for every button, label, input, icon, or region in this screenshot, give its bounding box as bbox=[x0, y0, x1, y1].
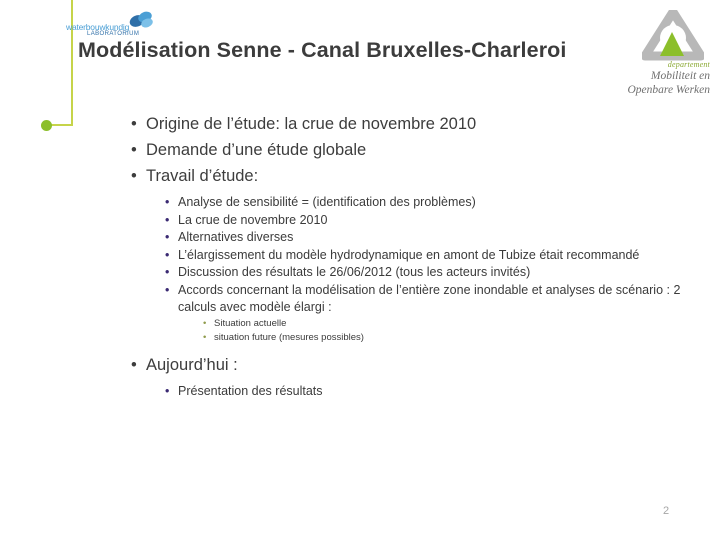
waterbouwkundig-laboratorium-logo: waterbouwkundig LABORATORIUM bbox=[66, 11, 161, 39]
bullet-level2: • Analyse de sensibilité = (identificati… bbox=[164, 194, 690, 212]
bullet-level2: • L’élargissement du modèle hydrodynamiq… bbox=[164, 247, 690, 265]
bullet-level3: • Situation actuelle bbox=[202, 317, 690, 331]
flanders-triangle-icon bbox=[642, 10, 704, 62]
bullet-level3: • situation future (mesures possibles) bbox=[202, 331, 690, 345]
bullet-text: La crue de novembre 2010 bbox=[178, 213, 327, 227]
bullet-text: L’élargissement du modèle hydrodynamique… bbox=[178, 248, 639, 262]
spacer bbox=[130, 345, 690, 353]
decorative-green-dot bbox=[41, 120, 52, 131]
bullet-marker-icon: • bbox=[165, 247, 169, 265]
bullet-level2: • Discussion des résultats le 26/06/2012… bbox=[164, 264, 690, 282]
page-number: 2 bbox=[663, 505, 669, 517]
bullet-marker-icon: • bbox=[165, 264, 169, 282]
bullet-text: Analyse de sensibilité = (identification… bbox=[178, 195, 476, 209]
slide-title: Modélisation Senne - Canal Bruxelles-Cha… bbox=[78, 37, 598, 63]
bullet-level2: • La crue de novembre 2010 bbox=[164, 212, 690, 230]
bullet-marker-icon: • bbox=[131, 353, 137, 378]
bullet-text: Aujourd’hui : bbox=[146, 356, 238, 374]
bullet-text: Accords concernant la modélisation de l’… bbox=[178, 283, 680, 315]
logo-label-mobiliteit: Mobiliteit en bbox=[651, 70, 710, 82]
bullet-marker-icon: • bbox=[165, 194, 169, 212]
bullet-marker-icon: • bbox=[165, 282, 169, 300]
bullet-text: Présentation des résultats bbox=[178, 384, 323, 398]
bullet-marker-icon: • bbox=[131, 138, 137, 163]
bullet-level1: • Aujourd’hui : bbox=[130, 353, 690, 378]
bullet-text: Alternatives diverses bbox=[178, 230, 293, 244]
logo-label-openbare-werken: Openbare Werken bbox=[628, 84, 711, 96]
bullet-level2: • Présentation des résultats bbox=[164, 383, 690, 401]
slide-canvas: waterbouwkundig LABORATORIUM departement… bbox=[0, 0, 720, 540]
bullet-level2: • Alternatives diverses bbox=[164, 229, 690, 247]
bullet-marker-icon: • bbox=[165, 383, 169, 401]
bullet-marker-icon: • bbox=[165, 229, 169, 247]
bullet-level1: • Travail d’étude: bbox=[130, 164, 690, 189]
logo-label-departement: departement bbox=[668, 60, 710, 69]
bullet-text: Discussion des résultats le 26/06/2012 (… bbox=[178, 265, 530, 279]
bullet-marker-icon: • bbox=[131, 112, 137, 137]
bullet-level1: • Demande d’une étude globale bbox=[130, 138, 690, 163]
bullet-level2: • Accords concernant la modélisation de … bbox=[164, 282, 690, 317]
bullet-marker-icon: • bbox=[165, 212, 169, 230]
bullet-text: Situation actuelle bbox=[214, 318, 286, 329]
bullet-text: Demande d’une étude globale bbox=[146, 141, 366, 159]
bullet-level1: • Origine de l’étude: la crue de novembr… bbox=[130, 112, 690, 137]
slide-body: • Origine de l’étude: la crue de novembr… bbox=[130, 112, 690, 400]
bullet-text: Origine de l’étude: la crue de novembre … bbox=[146, 115, 476, 133]
decorative-horizontal-line bbox=[50, 124, 73, 126]
departement-mow-logo: departement Mobiliteit en Openbare Werke… bbox=[600, 10, 712, 96]
bullet-text: Travail d’étude: bbox=[146, 167, 258, 185]
water-droplets-icon bbox=[128, 11, 154, 29]
bullet-marker-icon: • bbox=[131, 164, 137, 189]
bullet-marker-icon: • bbox=[203, 331, 206, 345]
bullet-text: situation future (mesures possibles) bbox=[214, 332, 364, 343]
bullet-marker-icon: • bbox=[203, 317, 206, 331]
